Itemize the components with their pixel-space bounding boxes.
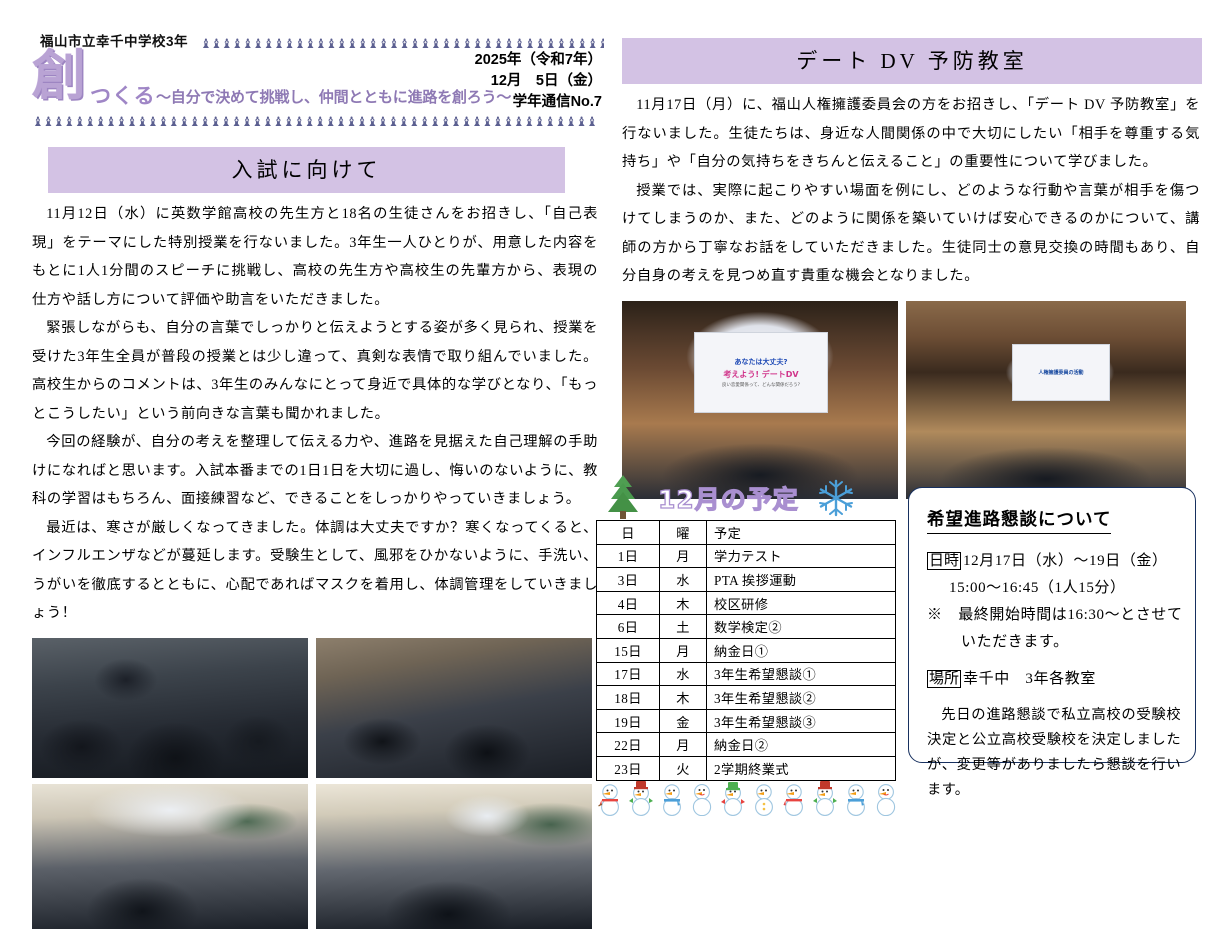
photo-hall-assembly-left: あなたは大丈夫? 考えよう! デートDV 良い恋愛関係って、どんな関係だろう? (622, 301, 898, 499)
consult-place-row: 場所幸千中 3年各教室 (927, 666, 1181, 693)
cell-weekday: 木 (660, 591, 707, 615)
snowman-icon (628, 780, 654, 821)
cell-day: 18日 (597, 686, 660, 710)
place-label: 場所 (927, 670, 961, 688)
snowflake-icon (816, 478, 856, 523)
cell-day: 4日 (597, 591, 660, 615)
issue-number: 学年通信No.7 (475, 92, 602, 113)
issue-info: 2025年（令和7年） 12月 5日（金） 学年通信No.7 (475, 50, 602, 113)
logo-kanji: 創 (32, 48, 86, 104)
snowmen-decoration (598, 780, 898, 821)
masthead-row: 創 つくる ～自分で決めて挑戦し、仲間とともに進路を創ろう～ 2025年（令和7… (32, 52, 602, 114)
consult-note: ※ 最終開始時間は16:30～とさせて (927, 602, 1181, 629)
consult-time-range: 15:00～16:45（1人15分） (927, 575, 1181, 602)
cell-event: 2学期終業式 (707, 756, 896, 780)
table-row: 22日月納金日② (597, 733, 896, 757)
cell-weekday: 月 (660, 544, 707, 568)
cell-event: 3年生希望懇談③ (707, 709, 896, 733)
snowman-icon (598, 782, 622, 821)
table-row: 6日土数学検定② (597, 615, 896, 639)
schedule-table: 日 曜 予定 1日月学力テスト 3日水PTA 挨拶運動 4日木校区研修 6日土数… (596, 520, 896, 781)
left-column: 福山市立幸千中学校3年 ♝♝♝♝♝♝♝♝♝♝♝♝♝♝♝♝♝♝♝♝♝♝♝♝♝♝♝♝… (32, 30, 602, 929)
masthead: 福山市立幸千中学校3年 ♝♝♝♝♝♝♝♝♝♝♝♝♝♝♝♝♝♝♝♝♝♝♝♝♝♝♝♝… (32, 30, 602, 129)
masthead-slogan: ～自分で決めて挑戦し、仲間とともに進路を創ろう～ (156, 86, 511, 107)
projector-slide: あなたは大丈夫? 考えよう! デートDV 良い恋愛関係って、どんな関係だろう? (694, 332, 828, 413)
slide-line-1: 人権擁護委員の活動 (1038, 369, 1083, 376)
issue-year: 2025年（令和7年） (475, 50, 602, 71)
cell-event: 納金日② (707, 733, 896, 757)
issue-date: 12月 5日（金） (475, 71, 602, 92)
table-row: 1日月学力テスト (597, 544, 896, 568)
snowman-icon (752, 782, 776, 821)
photo-speech-group-2 (316, 638, 592, 778)
photo-hall-assembly-right: 人権擁護委員の活動 (906, 301, 1186, 499)
cell-event: 学力テスト (707, 544, 896, 568)
column-header-weekday: 曜 (660, 521, 707, 545)
cell-event: 3年生希望懇談② (707, 686, 896, 710)
left-photo-grid (32, 638, 602, 929)
cell-day: 23日 (597, 756, 660, 780)
consult-title: 希望進路懇談について (927, 506, 1111, 534)
paragraph: 11月12日（水）に英数学館高校の先生方と18名の生徒さんをお招きし、「自己表現… (32, 200, 598, 314)
cell-weekday: 土 (660, 615, 707, 639)
schedule-title: 12月の予定 (658, 480, 799, 516)
slide-line-1: あなたは大丈夫? (734, 357, 787, 367)
decorative-border-bottom: ♝♝♝♝♝♝♝♝♝♝♝♝♝♝♝♝♝♝♝♝♝♝♝♝♝♝♝♝♝♝♝♝♝♝♝♝♝♝♝♝… (32, 116, 598, 129)
table-row: 19日金3年生希望懇談③ (597, 709, 896, 733)
cell-weekday: 水 (660, 662, 707, 686)
cell-day: 22日 (597, 733, 660, 757)
datetime-value: 12月17日（水）～19日（金） (963, 553, 1168, 569)
cell-day: 17日 (597, 662, 660, 686)
cell-day: 19日 (597, 709, 660, 733)
cell-day: 15日 (597, 638, 660, 662)
left-body-text: 11月12日（水）に英数学館高校の先生方と18名の生徒さんをお招きし、「自己表現… (32, 193, 598, 628)
cell-event: PTA 挨拶運動 (707, 568, 896, 592)
column-header-event: 予定 (707, 521, 896, 545)
table-row: 18日木3年生希望懇談② (597, 686, 896, 710)
schedule-title-row: 12月の予定 (596, 478, 896, 520)
career-consultation-box: 希望進路懇談について 日時12月17日（水）～19日（金） 15:00～16:4… (908, 487, 1196, 763)
cell-event: 3年生希望懇談① (707, 662, 896, 686)
table-row: 17日水3年生希望懇談① (597, 662, 896, 686)
cell-day: 1日 (597, 544, 660, 568)
cell-event: 校区研修 (707, 591, 896, 615)
snowman-icon (690, 782, 714, 821)
snowman-icon (660, 782, 684, 821)
slide-line-2: 考えよう! デートDV (723, 369, 798, 380)
newsletter-page: 福山市立幸千中学校3年 ♝♝♝♝♝♝♝♝♝♝♝♝♝♝♝♝♝♝♝♝♝♝♝♝♝♝♝♝… (0, 0, 1227, 870)
snowman-icon (782, 782, 806, 821)
logo-reading: つくる (90, 80, 156, 110)
right-body-text: 11月17日（月）に、福山人権擁護委員会の方をお招きし、「デート DV 予防教室… (622, 84, 1200, 291)
left-section-heading: 入試に向けて (48, 147, 565, 193)
table-row: 23日火2学期終業式 (597, 756, 896, 780)
photo-speech-group-1 (32, 638, 308, 778)
cell-weekday: 火 (660, 756, 707, 780)
right-photo-pair: あなたは大丈夫? 考えよう! デートDV 良い恋愛関係って、どんな関係だろう? … (622, 301, 1202, 499)
table-row: 3日水PTA 挨拶運動 (597, 568, 896, 592)
paragraph: 緊張しながらも、自分の言葉でしっかりと伝えようとする姿が多く見られ、授業を受けた… (32, 314, 598, 428)
cell-day: 3日 (597, 568, 660, 592)
datetime-label: 日時 (927, 552, 961, 570)
cell-weekday: 木 (660, 686, 707, 710)
table-row: 4日木校区研修 (597, 591, 896, 615)
cell-weekday: 月 (660, 733, 707, 757)
photo-lecture-classroom-2 (316, 784, 592, 929)
photo-lecture-classroom-1 (32, 784, 308, 929)
paragraph: 最近は、寒さが厳しくなってきました。体調は大丈夫ですか？寒くなってくると、インフ… (32, 514, 598, 628)
cell-weekday: 水 (660, 568, 707, 592)
projector-slide: 人権擁護委員の活動 (1012, 344, 1109, 401)
right-column: デート DV 予防教室 11月17日（月）に、福山人権擁護委員会の方をお招きし、… (622, 38, 1202, 499)
snowman-icon (812, 780, 838, 821)
place-value: 幸千中 3年各教室 (963, 671, 1096, 687)
consult-note-cont: いただきます。 (927, 629, 1181, 656)
right-section-heading: デート DV 予防教室 (622, 38, 1202, 84)
december-schedule: 12月の予定 (596, 478, 896, 781)
table-row: 15日月納金日① (597, 638, 896, 662)
snowman-icon (874, 782, 898, 821)
cell-day: 6日 (597, 615, 660, 639)
cell-weekday: 月 (660, 638, 707, 662)
paragraph: 今回の経験が、自分の考えを整理して伝える力や、進路を見据えた自己理解の手助けにな… (32, 428, 598, 514)
cell-event: 数学検定② (707, 615, 896, 639)
cell-event: 納金日① (707, 638, 896, 662)
christmas-tree-icon (602, 474, 644, 525)
consult-datetime-row: 日時12月17日（水）～19日（金） (927, 548, 1181, 575)
snowman-icon (720, 780, 746, 821)
paragraph: 授業では、実際に起こりやすい場面を例にし、どのような行動や言葉が相手を傷つけてし… (622, 177, 1200, 291)
paragraph: 11月17日（月）に、福山人権擁護委員会の方をお招きし、「デート DV 予防教室… (622, 91, 1200, 177)
consult-body-text: 先日の進路懇談で私立高校の受験校決定と公立高校受験校を決定しましたが、変更等があ… (927, 703, 1181, 803)
snowman-icon (844, 782, 868, 821)
slide-line-3: 良い恋愛関係って、どんな関係だろう? (722, 382, 800, 388)
cell-weekday: 金 (660, 709, 707, 733)
